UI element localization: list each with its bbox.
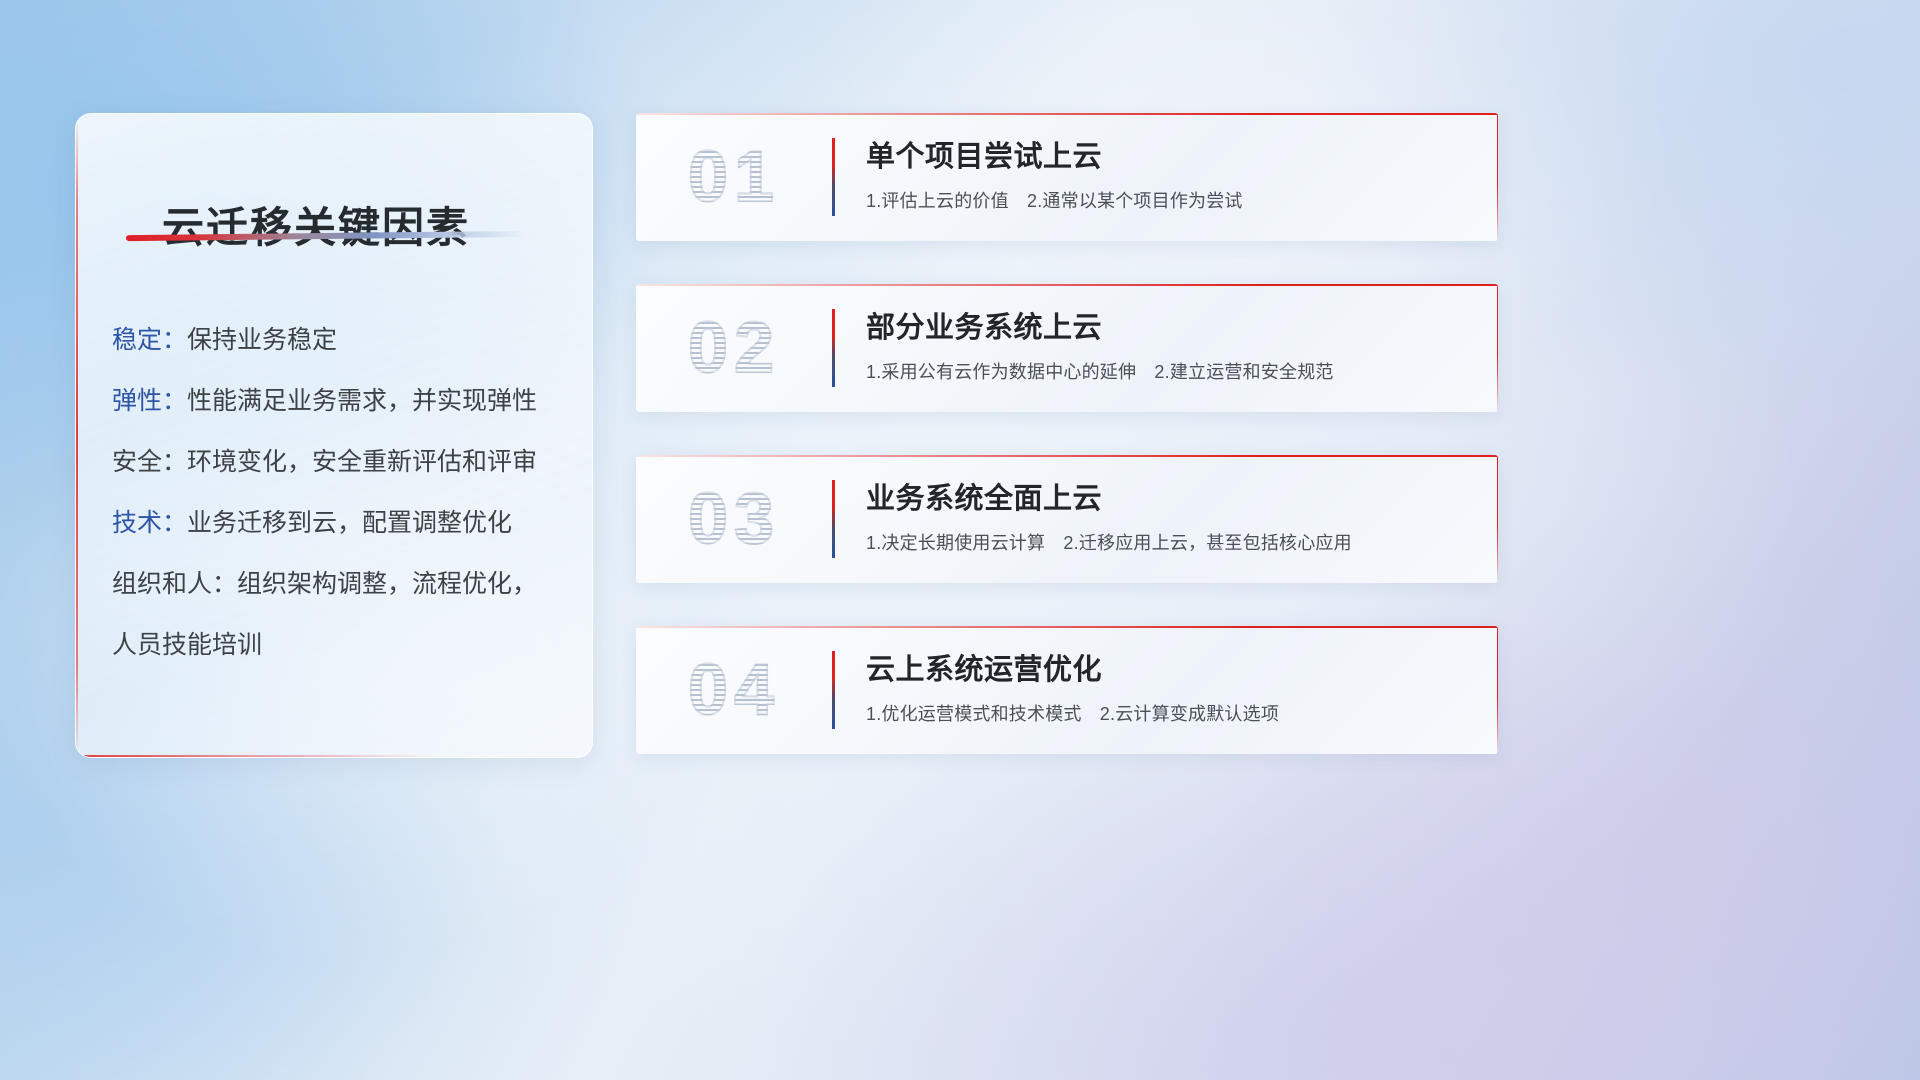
step-description: 1.优化运营模式和技术模式 2.云计算变成默认选项 (866, 700, 1474, 726)
factor-text: 性能满足业务需求，并实现弹性 (187, 387, 537, 415)
slide-canvas: 云迁移关键因素 稳定：保持业务稳定 弹性：性能满足业务需求，并实现弹性 安全：环… (0, 0, 1920, 1080)
migration-steps-list: 01 单个项目尝试上云 1.评估上云的价值 2.通常以某个项目作为尝试 02 部… (636, 113, 1498, 797)
factor-label: 组织和人： (112, 570, 237, 598)
factor-label: 弹性： (112, 387, 187, 415)
step-card-01[interactable]: 01 单个项目尝试上云 1.评估上云的价值 2.通常以某个项目作为尝试 (636, 113, 1498, 241)
step-number: 02 (636, 312, 832, 384)
factor-text: 保持业务稳定 (187, 326, 337, 354)
step-card-04[interactable]: 04 云上系统运营优化 1.优化运营模式和技术模式 2.云计算变成默认选项 (636, 626, 1498, 754)
step-card-03[interactable]: 03 业务系统全面上云 1.决定长期使用云计算 2.迁移应用上云，甚至包括核心应… (636, 455, 1498, 583)
step-title: 云上系统运营优化 (866, 654, 1474, 687)
factor-item-technology: 技术：业务迁移到云，配置调整优化 (112, 493, 574, 554)
key-factors-panel: 云迁移关键因素 稳定：保持业务稳定 弹性：性能满足业务需求，并实现弹性 安全：环… (75, 113, 593, 758)
factor-item-organization: 组织和人：组织架构调整，流程优化， (112, 554, 574, 615)
factor-item-security: 安全：环境变化，安全重新评估和评审 (112, 432, 574, 493)
factor-list: 稳定：保持业务稳定 弹性：性能满足业务需求，并实现弹性 安全：环境变化，安全重新… (112, 310, 574, 676)
step-number: 03 (636, 483, 832, 555)
factor-item-organization-line2: 人员技能培训 (112, 615, 574, 676)
step-number: 04 (636, 654, 832, 726)
factor-item-stability: 稳定：保持业务稳定 (112, 310, 574, 371)
factor-item-elasticity: 弹性：性能满足业务需求，并实现弹性 (112, 371, 574, 432)
step-title: 单个项目尝试上云 (866, 141, 1474, 174)
factor-label: 稳定： (112, 326, 187, 354)
step-description: 1.评估上云的价值 2.通常以某个项目作为尝试 (866, 187, 1474, 213)
panel-title: 云迁移关键因素 (162, 194, 470, 255)
factor-text: 环境变化，安全重新评估和评审 (187, 448, 537, 476)
step-card-02[interactable]: 02 部分业务系统上云 1.采用公有云作为数据中心的延伸 2.建立运营和安全规范 (636, 284, 1498, 412)
factor-label: 安全： (112, 448, 187, 476)
step-description: 1.采用公有云作为数据中心的延伸 2.建立运营和安全规范 (866, 358, 1474, 384)
step-number: 01 (636, 141, 832, 213)
step-title: 部分业务系统上云 (866, 312, 1474, 345)
step-description: 1.决定长期使用云计算 2.迁移应用上云，甚至包括核心应用 (866, 529, 1474, 555)
factor-text: 业务迁移到云，配置调整优化 (187, 509, 512, 537)
step-title: 业务系统全面上云 (866, 483, 1474, 516)
factor-label: 技术： (112, 509, 187, 537)
factor-text: 人员技能培训 (112, 631, 262, 659)
factor-text: 组织架构调整，流程优化， (237, 570, 537, 598)
